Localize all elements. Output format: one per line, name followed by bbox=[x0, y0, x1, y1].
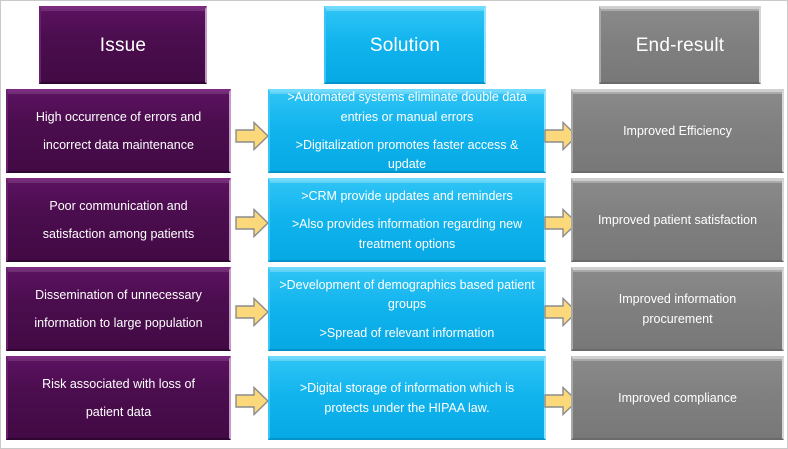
column-header-issue: Issue bbox=[39, 6, 207, 84]
issue-box-row-1-line-1: High occurrence of errors and bbox=[16, 108, 221, 127]
solution-box-row-3-line-1: >Development of demographics based patie… bbox=[278, 276, 536, 315]
solution-box-row-2: >CRM provide updates and reminders >Also… bbox=[268, 178, 546, 262]
right-block-arrow-icon-row-2 bbox=[235, 208, 269, 238]
end-result-box-row-3-line-2: procurement bbox=[581, 310, 774, 329]
issue-box-row-2: Poor communication and satisfaction amon… bbox=[6, 178, 231, 262]
issue-box-row-2-line-2: satisfaction among patients bbox=[16, 225, 221, 244]
issue-box-row-3: Dissemination of unnecessary information… bbox=[6, 267, 231, 351]
issue-box-row-3-line-2: information to large population bbox=[16, 314, 221, 333]
column-header-solution: Solution bbox=[324, 6, 486, 84]
end-result-box-row-2-line-1: Improved patient satisfaction bbox=[581, 211, 774, 230]
solution-box-row-2-line-1: >CRM provide updates and reminders bbox=[278, 187, 536, 206]
issue-box-row-1: High occurrence of errors and incorrect … bbox=[6, 89, 231, 173]
issue-box-row-4-line-1: Risk associated with loss of bbox=[16, 375, 221, 394]
issue-box-row-3-line-1: Dissemination of unnecessary bbox=[16, 286, 221, 305]
issue-box-row-4-line-2: patient data bbox=[16, 403, 221, 422]
solution-box-row-2-line-2: >Also provides information regarding new… bbox=[278, 215, 536, 254]
solution-box-row-3: >Development of demographics based patie… bbox=[268, 267, 546, 351]
end-result-box-row-4-line-1: Improved compliance bbox=[581, 389, 774, 408]
end-result-box-row-1-line-1: Improved Efficiency bbox=[581, 122, 774, 141]
end-result-box-row-1: Improved Efficiency bbox=[571, 89, 784, 173]
end-result-box-row-2: Improved patient satisfaction bbox=[571, 178, 784, 262]
column-header-end-result: End-result bbox=[599, 6, 761, 84]
process-flow-diagram: Issue Solution End-result High occurrenc… bbox=[0, 0, 788, 449]
solution-box-row-3-line-2: >Spread of relevant information bbox=[278, 324, 536, 343]
end-result-box-row-4: Improved compliance bbox=[571, 356, 784, 440]
right-block-arrow-icon-row-3 bbox=[235, 297, 269, 327]
column-header-end-result-label: End-result bbox=[636, 31, 725, 60]
issue-box-row-2-line-1: Poor communication and bbox=[16, 197, 221, 216]
end-result-box-row-3: Improved information procurement bbox=[571, 267, 784, 351]
solution-box-row-4-line-1: >Digital storage of information which is… bbox=[278, 379, 536, 418]
column-header-issue-label: Issue bbox=[100, 31, 146, 60]
issue-box-row-1-line-2: incorrect data maintenance bbox=[16, 136, 221, 155]
right-block-arrow-icon-row-1 bbox=[235, 121, 269, 151]
right-block-arrow-icon-row-4 bbox=[235, 386, 269, 416]
end-result-box-row-3-line-1: Improved information bbox=[581, 290, 774, 309]
column-header-solution-label: Solution bbox=[370, 31, 440, 60]
solution-box-row-4: >Digital storage of information which is… bbox=[268, 356, 546, 440]
solution-box-row-1-line-1: >Automated systems eliminate double data… bbox=[278, 88, 536, 127]
issue-box-row-4: Risk associated with loss of patient dat… bbox=[6, 356, 231, 440]
solution-box-row-1-line-2: >Digitalization promotes faster access &… bbox=[278, 136, 536, 175]
solution-box-row-1: >Automated systems eliminate double data… bbox=[268, 89, 546, 173]
